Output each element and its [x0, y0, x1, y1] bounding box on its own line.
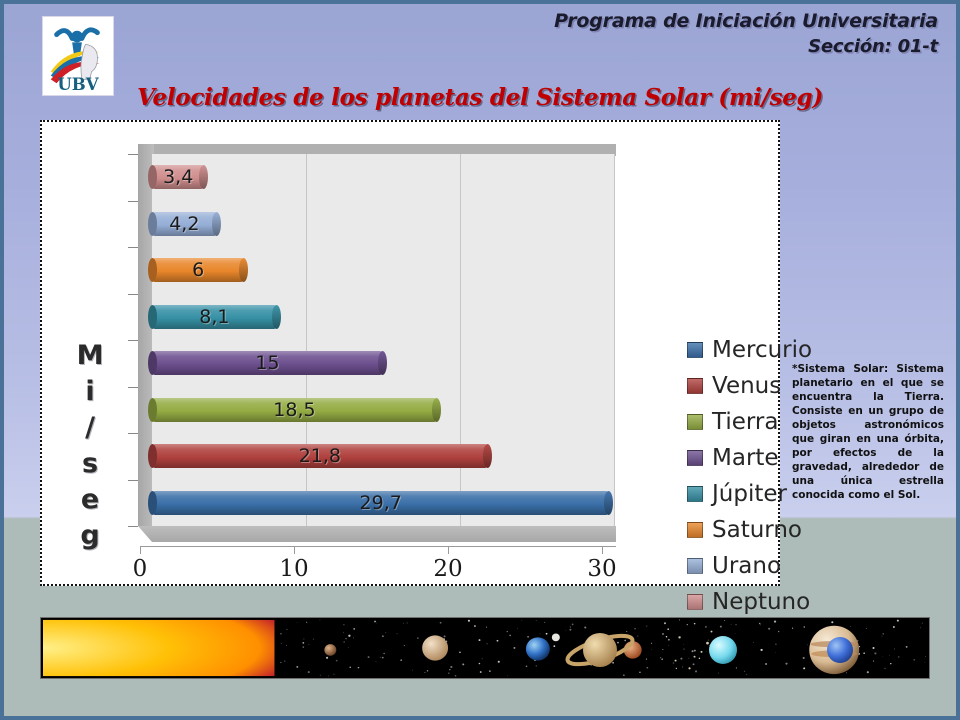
- legend-item-urano[interactable]: Urano: [687, 548, 812, 584]
- bar-cap-right: [432, 398, 441, 422]
- y-tick-3: [128, 294, 138, 295]
- y-axis-title-char-3: s: [68, 446, 112, 482]
- bar-value-label-marte: 15: [255, 352, 279, 374]
- y-axis-title-char-4: e: [68, 482, 112, 518]
- y-axis-title-char-1: i: [68, 374, 112, 410]
- legend-label: Mercurio: [712, 337, 812, 363]
- x-tick-label-0: 0: [133, 556, 148, 582]
- y-tick-5: [128, 387, 138, 388]
- y-tick-2: [128, 247, 138, 248]
- bar-cap-left: [148, 305, 157, 329]
- y-tick-7: [128, 480, 138, 481]
- legend-swatch-icon: [687, 450, 703, 466]
- y-axis-title-char-5: g: [68, 518, 112, 554]
- bar-value-label-venus: 21,8: [299, 445, 341, 467]
- plot-wrapper: Mi/seg 3,44,268,11518,521,829,7 0102030 …: [42, 122, 778, 584]
- planet-venus: [422, 635, 448, 660]
- legend-swatch-icon: [687, 522, 703, 538]
- bar-value-label-tierra: 18,5: [273, 399, 315, 421]
- bar-value-label-mercurio: 29,7: [360, 492, 402, 514]
- planet-mercurio: [324, 644, 336, 656]
- planet-marte: [624, 641, 642, 658]
- x-tick-label-30: 30: [587, 556, 616, 582]
- y-tick-6: [128, 433, 138, 434]
- slide-canvas: UBV Programa de Iniciación Universitaria…: [0, 0, 960, 720]
- moon-luna: [552, 633, 560, 641]
- legend-swatch-icon: [687, 558, 703, 574]
- bar-cap-right: [212, 212, 221, 236]
- legend-label: Urano: [712, 553, 781, 579]
- x-tick-0: [140, 546, 141, 554]
- planet-tierra: [526, 637, 550, 660]
- bar-value-label-júpiter: 8,1: [199, 306, 229, 328]
- bar-cap-left: [148, 212, 157, 236]
- legend-item-saturno[interactable]: Saturno: [687, 512, 812, 548]
- legend-label: Tierra: [712, 409, 778, 435]
- planet-jupiter: [809, 626, 859, 674]
- solar-system-image: [40, 617, 930, 679]
- legend-swatch-icon: [687, 414, 703, 430]
- header-block: Programa de Iniciación Universitaria Sec…: [554, 10, 938, 58]
- bar-value-label-saturno: 6: [192, 259, 204, 281]
- bar-cap-left: [148, 491, 157, 515]
- plot-3d-floor: [138, 526, 616, 542]
- chart-container: Mi/seg 3,44,268,11518,521,829,7 0102030 …: [40, 120, 780, 586]
- x-tick-10: [294, 546, 295, 554]
- bar-cap-right: [272, 305, 281, 329]
- y-axis-title-char-0: M: [68, 338, 112, 374]
- x-axis-line: [140, 546, 616, 547]
- gridline-10: [306, 154, 307, 526]
- plot-area: [152, 154, 614, 526]
- legend-swatch-icon: [687, 486, 703, 502]
- legend-swatch-icon: [687, 342, 703, 358]
- y-tick-8: [128, 526, 138, 527]
- y-tick-0: [128, 154, 138, 155]
- legend-swatch-icon: [687, 594, 703, 610]
- legend-label: Marte: [712, 445, 779, 471]
- y-axis-title: Mi/seg: [68, 338, 112, 554]
- legend-label: Venus: [712, 373, 781, 399]
- legend-label: Júpiter: [712, 481, 787, 507]
- x-tick-20: [448, 546, 449, 554]
- legend-swatch-icon: [687, 378, 703, 394]
- bar-cap-left: [148, 398, 157, 422]
- page-title: Velocidades de los planetas del Sistema …: [4, 84, 956, 111]
- y-axis-title-char-2: /: [68, 410, 112, 446]
- legend-item-neptuno[interactable]: Neptuno: [687, 584, 812, 620]
- bar-value-label-neptuno: 3,4: [163, 166, 193, 188]
- legend-label: Saturno: [712, 517, 802, 543]
- legend-label: Neptuno: [712, 589, 810, 615]
- x-tick-label-20: 20: [433, 556, 462, 582]
- gridline-20: [460, 154, 461, 526]
- bar-value-label-urano: 4,2: [169, 213, 199, 235]
- y-tick-1: [128, 201, 138, 202]
- y-tick-4: [128, 340, 138, 341]
- x-tick-30: [602, 546, 603, 554]
- footnote-text: *Sistema Solar: Sistema planetario en el…: [792, 362, 944, 502]
- x-tick-label-10: 10: [279, 556, 308, 582]
- bar-cap-right: [483, 444, 492, 468]
- gridline-30: [614, 154, 615, 526]
- section-label: Sección: 01-t: [554, 36, 938, 59]
- program-title: Programa de Iniciación Universitaria: [554, 10, 938, 34]
